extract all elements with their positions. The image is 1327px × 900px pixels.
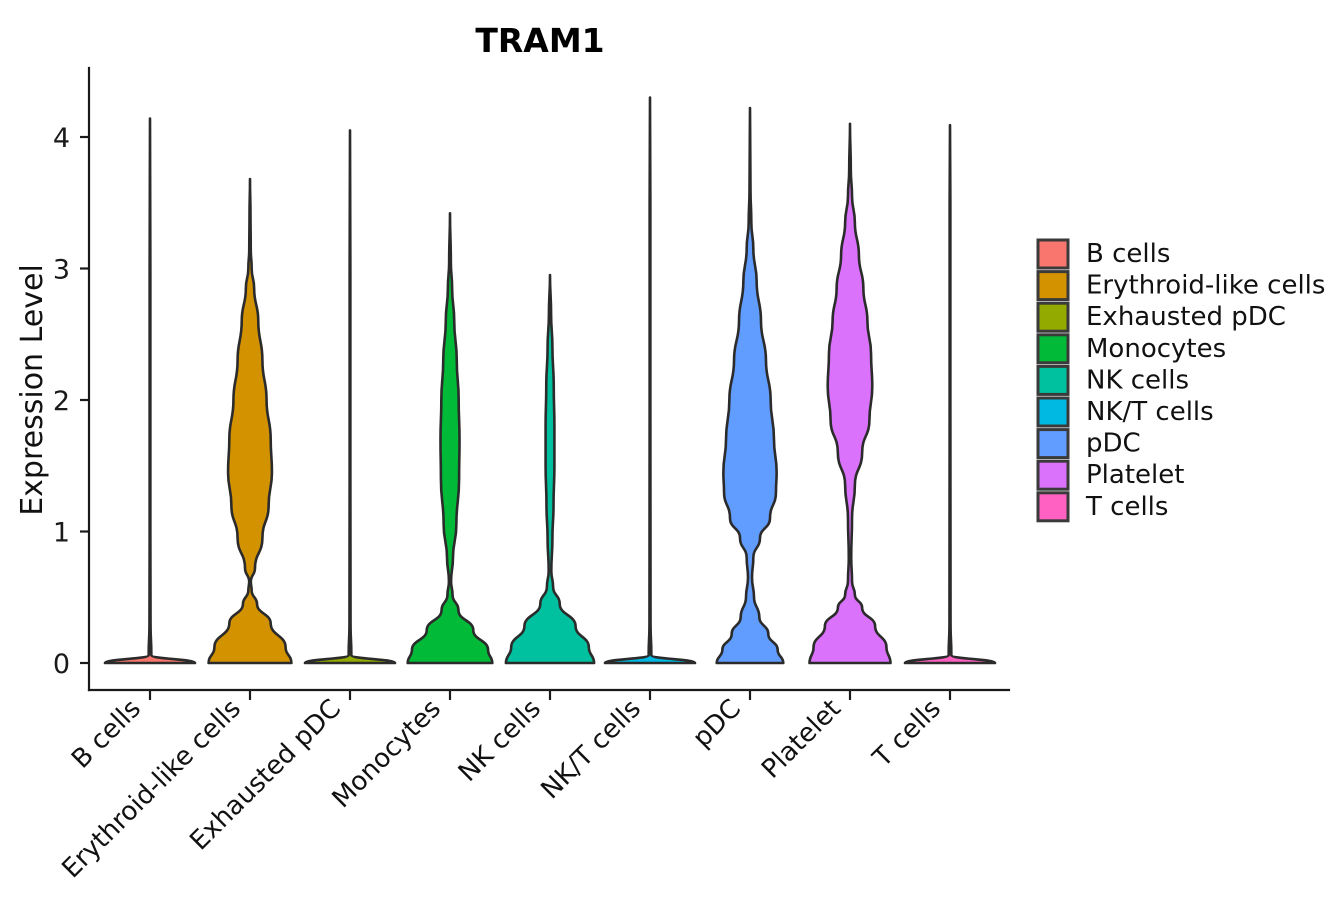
- x-tick-label: T cells: [867, 694, 947, 774]
- legend-label[interactable]: T cells: [1085, 492, 1168, 522]
- x-tick-label: NK cells: [453, 694, 547, 788]
- x-axis-ticks: B cellsErythroid-like cellsExhausted pDC…: [56, 690, 950, 884]
- x-tick-label: B cells: [66, 694, 147, 775]
- x-tick-label: Erythroid-like cells: [56, 694, 247, 885]
- legend-swatch[interactable]: [1038, 461, 1068, 489]
- legend-label[interactable]: NK cells: [1086, 365, 1189, 395]
- y-tick-label: 4: [53, 123, 70, 154]
- legend-swatch[interactable]: [1038, 366, 1068, 394]
- legend-label[interactable]: Platelet: [1086, 460, 1184, 490]
- y-tick-label: 2: [53, 386, 70, 417]
- legend-swatch[interactable]: [1038, 398, 1068, 426]
- y-axis-title: Expression Level: [15, 264, 50, 516]
- legend-swatch[interactable]: [1038, 303, 1068, 331]
- legend-swatch[interactable]: [1038, 430, 1068, 458]
- legend-label[interactable]: NK/T cells: [1086, 397, 1214, 427]
- x-tick-label: NK/T cells: [535, 694, 647, 806]
- legend-label[interactable]: B cells: [1086, 239, 1170, 269]
- legend-swatch[interactable]: [1038, 272, 1068, 300]
- y-axis-ticks: 01234: [53, 123, 89, 680]
- legend-swatch[interactable]: [1038, 240, 1068, 268]
- violin-shape: [605, 98, 695, 663]
- violin-shape: [810, 124, 891, 663]
- violin-shape: [408, 213, 493, 663]
- violin-shape: [717, 108, 784, 663]
- page-title: TRAM1: [475, 21, 604, 60]
- legend-label[interactable]: Exhausted pDC: [1086, 302, 1286, 332]
- violin-plot-svg: TRAM1 Expression Level 01234 B cellsEryt…: [0, 0, 1327, 900]
- violin-shape: [105, 119, 195, 663]
- x-tick-label: Monocytes: [327, 694, 447, 814]
- legend-label[interactable]: pDC: [1086, 429, 1141, 459]
- violin-plot-figure: TRAM1 Expression Level 01234 B cellsEryt…: [0, 0, 1327, 900]
- x-tick-label: Platelet: [756, 694, 847, 785]
- x-tick-label: pDC: [687, 694, 747, 754]
- y-tick-label: 1: [53, 518, 70, 549]
- legend: B cellsErythroid-like cellsExhausted pDC…: [1038, 239, 1325, 522]
- violin-shape: [209, 179, 292, 663]
- y-tick-label: 0: [53, 649, 70, 680]
- legend-swatch[interactable]: [1038, 493, 1068, 521]
- violin-series-group: [105, 98, 995, 663]
- legend-label[interactable]: Erythroid-like cells: [1086, 271, 1325, 301]
- legend-swatch[interactable]: [1038, 335, 1068, 363]
- violin-shape: [905, 125, 995, 663]
- y-tick-label: 3: [53, 255, 70, 286]
- violin-shape: [506, 275, 594, 663]
- legend-label[interactable]: Monocytes: [1086, 334, 1226, 364]
- violin-shape: [305, 130, 395, 663]
